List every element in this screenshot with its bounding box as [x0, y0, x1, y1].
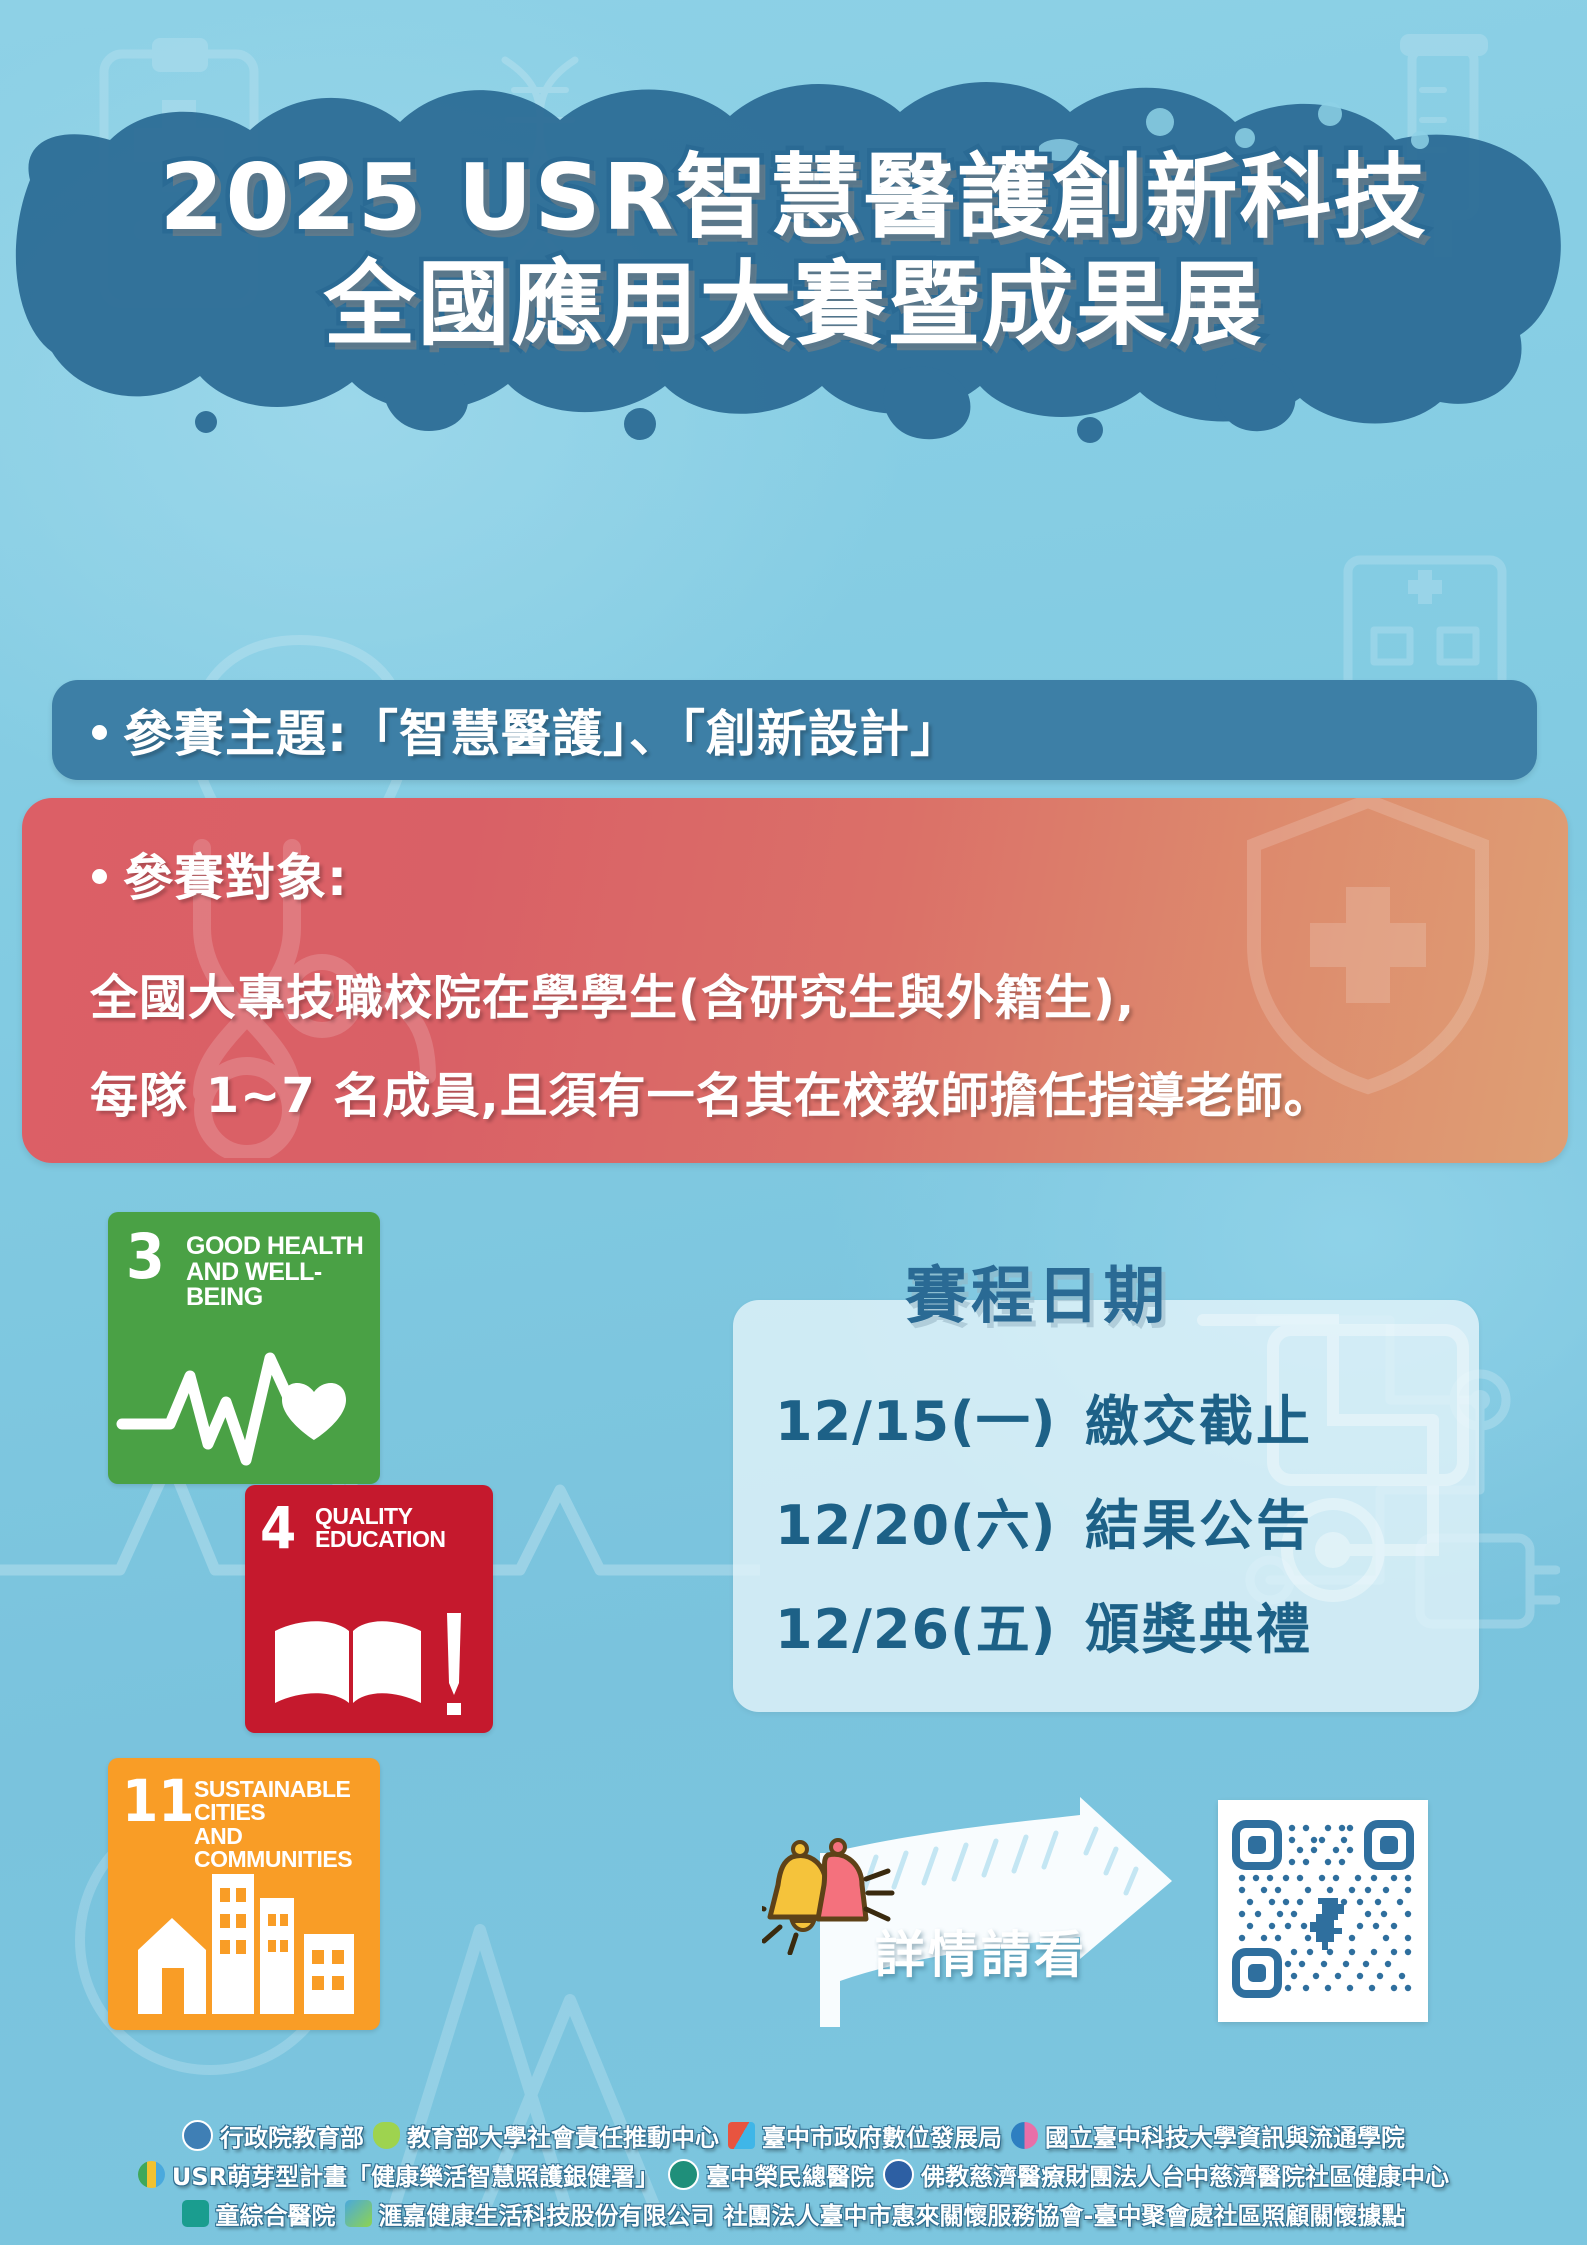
sponsor-row: 童綜合醫院 滙嘉健康生活科技股份有限公司 社團法人臺中市惠來關懷服務協會-臺中聚…: [0, 2196, 1587, 2231]
schedule-row: 12/15(一) 繳交截止: [733, 1364, 1479, 1468]
usr-sprout-icon: [373, 2122, 400, 2149]
sdg-badge-11: 11 SUSTAINABLE CITIES AND COMMUNITIES: [108, 1758, 380, 2030]
audience-line-1: 全國大專技職校院在學學生(含研究生與外籍生),: [90, 958, 1135, 1028]
usr-sprouting-icon: [138, 2161, 165, 2188]
sdg-4-label: QUALITY EDUCATION: [315, 1505, 446, 1552]
sponsor-item: 社團法人臺中市惠來關懷服務協會-臺中聚會處社區照顧關懷據點: [724, 2196, 1406, 2231]
sponsor-item: 教育部大學社會責任推動中心: [373, 2118, 719, 2153]
moe-emblem-icon: [182, 2120, 213, 2151]
hgiga-icon: [345, 2200, 372, 2227]
sdg-4-number: 4: [260, 1499, 296, 1557]
schedule-date: 12/15(一): [775, 1377, 1085, 1456]
title-line-1: 2025 USR智慧醫護創新科技: [0, 150, 1587, 247]
sponsor-item: 國立臺中科技大學資訊與流通學院: [1011, 2118, 1405, 2153]
title-line-2: 全國應用大賽暨成果展: [0, 247, 1587, 362]
sdg-badge-3: 3 GOOD HEALTH AND WELL-BEING: [108, 1212, 380, 1484]
schedule-row: 12/20(六) 結果公告: [733, 1468, 1479, 1572]
tzuchi-icon: [883, 2159, 914, 2190]
sdg-3-label: GOOD HEALTH AND WELL-BEING: [186, 1234, 380, 1311]
qr-code-icon[interactable]: [1218, 1800, 1428, 2022]
schedule-title: 賽程日期: [905, 1245, 1169, 1335]
vghtc-icon: [668, 2159, 699, 2190]
sponsor-item: 童綜合醫院: [182, 2196, 336, 2231]
schedule-event: 繳交截止: [1085, 1377, 1313, 1456]
schedule-date: 12/20(六): [775, 1481, 1085, 1560]
sdg-3-number: 3: [126, 1226, 165, 1288]
sponsor-item: 滙嘉健康生活科技股份有限公司: [345, 2196, 715, 2231]
sponsor-row: USR萌芽型計畫「健康樂活智慧照護銀健署」 臺中榮民總醫院 佛教慈濟醫療財團法人…: [0, 2157, 1587, 2192]
poster-root: 2025 USR智慧醫護創新科技 全國應用大賽暨成果展 參賽主題:「智慧醫護」、…: [0, 0, 1587, 2245]
competition-theme-banner: 參賽主題:「智慧醫護」、「創新設計」: [52, 680, 1537, 780]
city-buildings-icon: [108, 1864, 380, 2024]
cta-label: 詳情請看: [875, 1915, 1087, 1987]
sdg-11-label: SUSTAINABLE CITIES AND COMMUNITIES: [194, 1778, 380, 1872]
nutc-icon: [1011, 2122, 1038, 2149]
taichung-city-icon: [728, 2122, 755, 2149]
schedule-row: 12/26(五) 頒獎典禮: [733, 1572, 1479, 1676]
sponsor-item: 臺中榮民總醫院: [668, 2157, 874, 2192]
cta-group: 詳情請看: [780, 1795, 1230, 2085]
book-pencil-icon: [245, 1587, 493, 1727]
tungs-hospital-icon: [182, 2200, 209, 2227]
sdg-11-number: 11: [122, 1772, 195, 1830]
sponsor-row: 行政院教育部 教育部大學社會責任推動中心 臺中市政府數位發展局 國立臺中科技大學…: [0, 2118, 1587, 2153]
audience-heading: 參賽對象:: [92, 838, 348, 910]
audience-panel: 參賽對象: 全國大專技職校院在學學生(含研究生與外籍生), 每隊 1~7 名成員…: [22, 798, 1568, 1163]
sponsor-item: USR萌芽型計畫「健康樂活智慧照護銀健署」: [138, 2157, 659, 2192]
audience-line-2: 每隊 1~7 名成員,且須有一名其在校教師擔任指導老師。: [90, 1056, 1333, 1126]
sponsor-footer: 行政院教育部 教育部大學社會責任推動中心 臺中市政府數位發展局 國立臺中科技大學…: [0, 2114, 1587, 2235]
schedule-date: 12/26(五): [775, 1585, 1085, 1664]
sponsor-item: 臺中市政府數位發展局: [728, 2118, 1002, 2153]
heartbeat-icon: [108, 1328, 380, 1478]
schedule-event: 結果公告: [1085, 1481, 1313, 1560]
schedule-rows: 12/15(一) 繳交截止 12/20(六) 結果公告 12/26(五) 頒獎典…: [733, 1325, 1479, 1715]
poster-title: 2025 USR智慧醫護創新科技 全國應用大賽暨成果展: [0, 150, 1587, 362]
sdg-badge-4: 4 QUALITY EDUCATION: [245, 1485, 493, 1733]
bullet-dot-icon: [92, 725, 107, 740]
competition-theme-label: 參賽主題:「智慧醫護」、「創新設計」: [52, 694, 961, 766]
sponsor-item: 佛教慈濟醫療財團法人台中慈濟醫院社區健康中心: [883, 2157, 1449, 2192]
schedule-event: 頒獎典禮: [1085, 1585, 1313, 1664]
bullet-dot-icon: [92, 869, 107, 884]
sponsor-item: 行政院教育部: [182, 2118, 364, 2153]
